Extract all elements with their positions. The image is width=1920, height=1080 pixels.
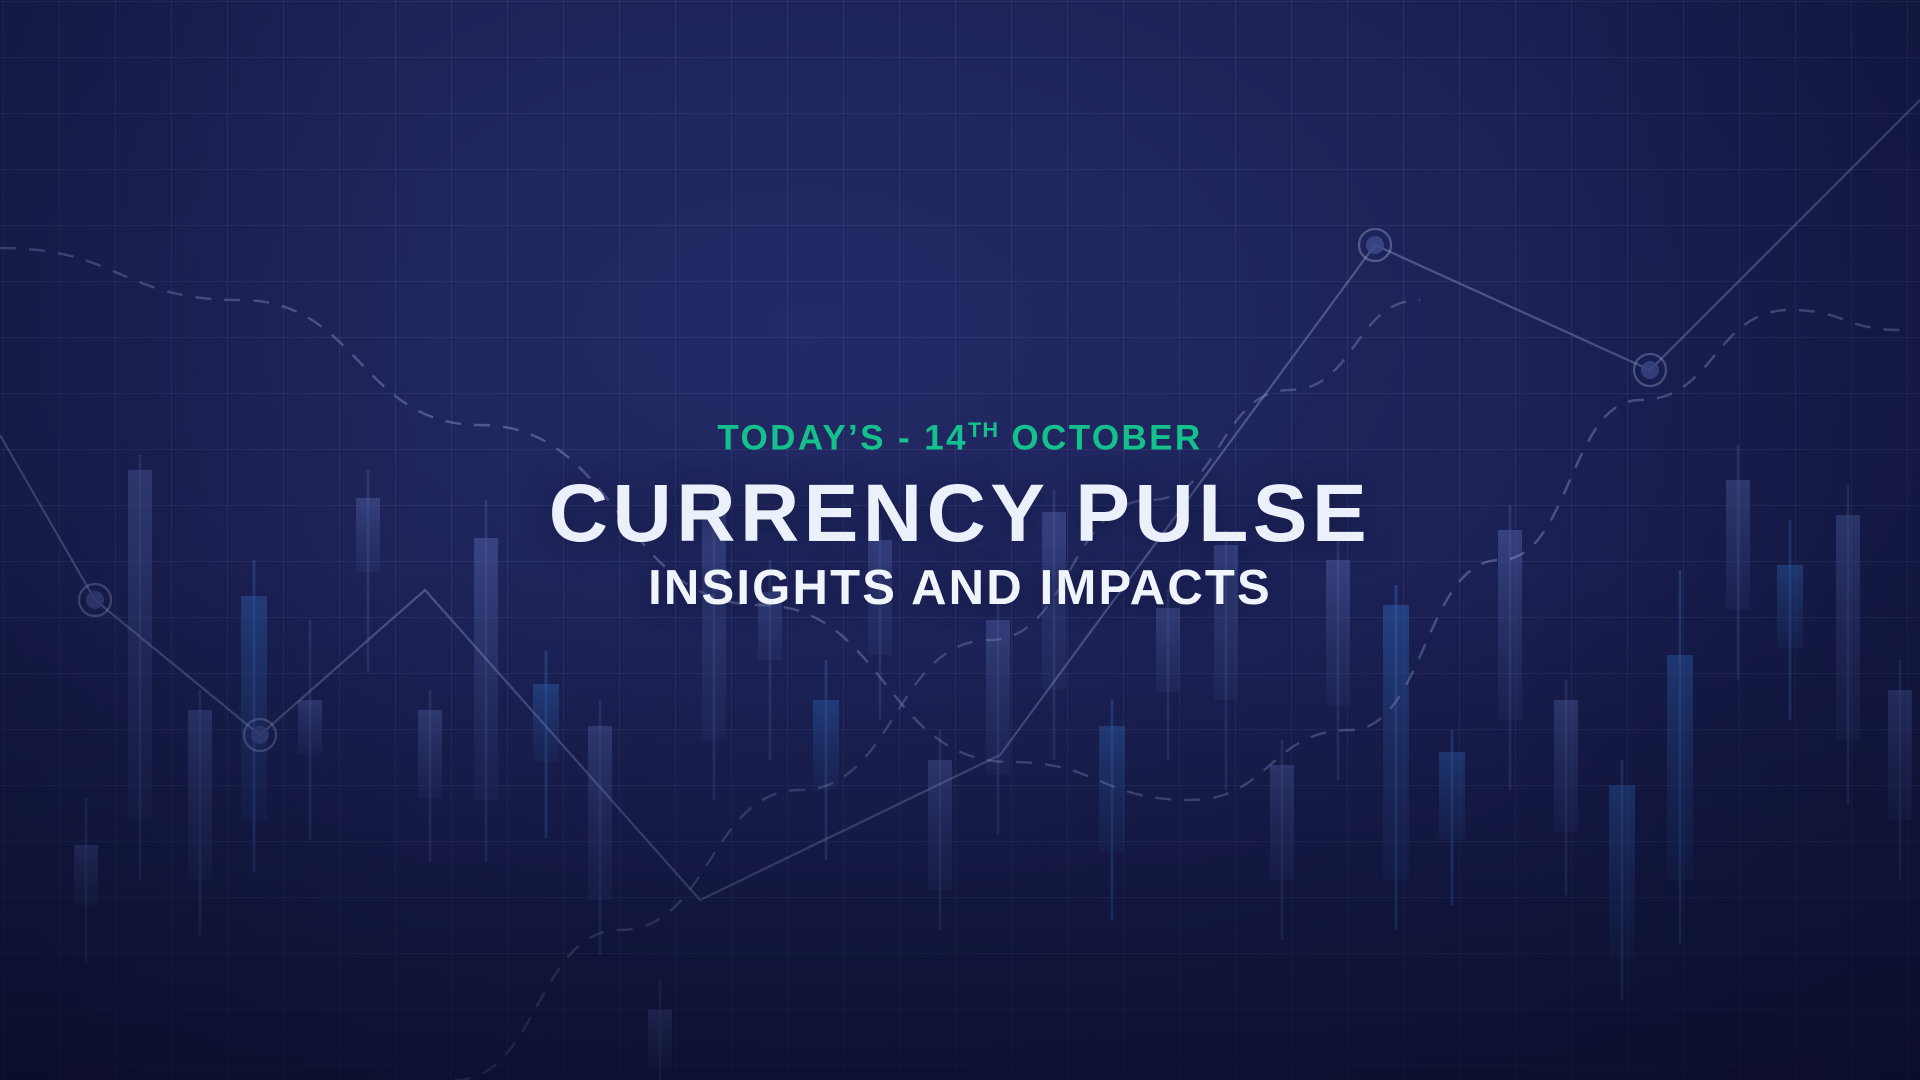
currency-pulse-banner: TODAY’S - 14TH OCTOBER CURRENCY PULSE IN… <box>0 0 1920 1080</box>
eyebrow-prefix: TODAY’S - 14 <box>717 419 968 458</box>
eyebrow-month: OCTOBER <box>1011 419 1202 458</box>
headline-block: TODAY’S - 14TH OCTOBER CURRENCY PULSE IN… <box>0 0 1920 1080</box>
date-eyebrow: TODAY’S - 14TH OCTOBER <box>717 419 1202 456</box>
page-subtitle: INSIGHTS AND IMPACTS <box>648 563 1272 614</box>
eyebrow-ordinal-suffix: TH <box>968 417 999 442</box>
page-title: CURRENCY PULSE <box>549 472 1371 556</box>
